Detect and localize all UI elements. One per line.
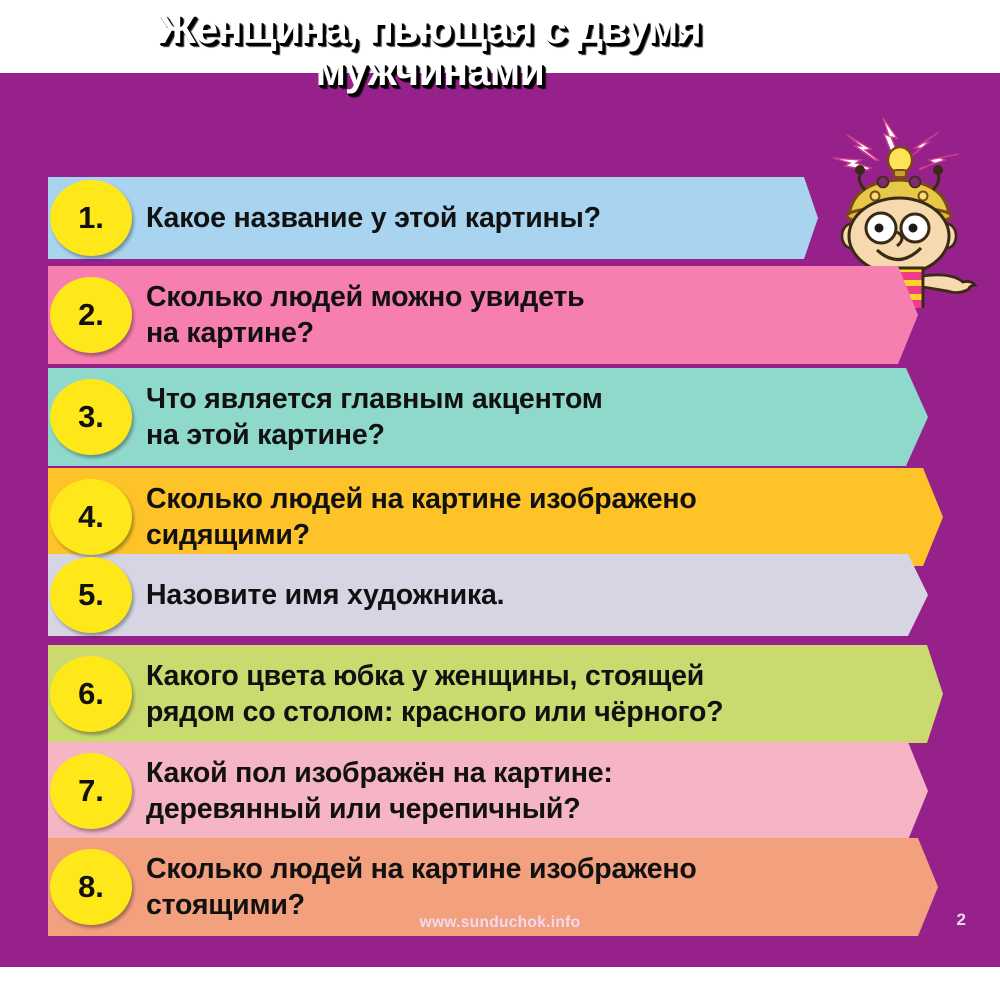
question-row[interactable]: 4.Сколько людей на картине изображено си… <box>48 468 943 566</box>
question-text: Сколько людей на картине изображено сидя… <box>146 481 946 553</box>
question-number-badge: 5. <box>50 557 132 633</box>
question-row[interactable]: 5.Назовите имя художника. <box>48 554 928 636</box>
question-number-badge: 7. <box>50 753 132 829</box>
question-text: Сколько людей можно увидеть на картине? <box>146 279 946 351</box>
question-text: Какого цвета юбка у женщины, стоящей ряд… <box>146 658 946 730</box>
question-number-badge: 8. <box>50 849 132 925</box>
question-text: Сколько людей на картине изображено стоя… <box>146 851 946 923</box>
question-number-badge: 4. <box>50 479 132 555</box>
footer-url[interactable]: www.sunduchok.info <box>0 914 1000 932</box>
question-text: Что является главным акцентом на этой ка… <box>146 381 946 453</box>
page-title: Женщина, пьющая с двумя мужчинами <box>0 8 860 92</box>
question-number-badge: 6. <box>50 656 132 732</box>
question-number-badge: 2. <box>50 277 132 353</box>
page-number: 2 <box>957 910 966 930</box>
question-row[interactable]: 1.Какое название у этой картины? <box>48 177 818 259</box>
question-row[interactable]: 7.Какой пол изображён на картине: деревя… <box>48 742 928 840</box>
question-row[interactable]: 3.Что является главным акцентом на этой … <box>48 368 928 466</box>
question-row[interactable]: 2.Сколько людей можно увидеть на картине… <box>48 266 918 364</box>
quiz-slide: Женщина, пьющая с двумя мужчинами <box>0 0 1000 1000</box>
question-text: Назовите имя художника. <box>146 577 946 613</box>
question-row[interactable]: 6.Какого цвета юбка у женщины, стоящей р… <box>48 645 943 743</box>
question-text: Какой пол изображён на картине: деревянн… <box>146 755 946 827</box>
question-number-badge: 3. <box>50 379 132 455</box>
question-text: Какое название у этой картины? <box>146 200 946 236</box>
question-number-badge: 1. <box>50 180 132 256</box>
